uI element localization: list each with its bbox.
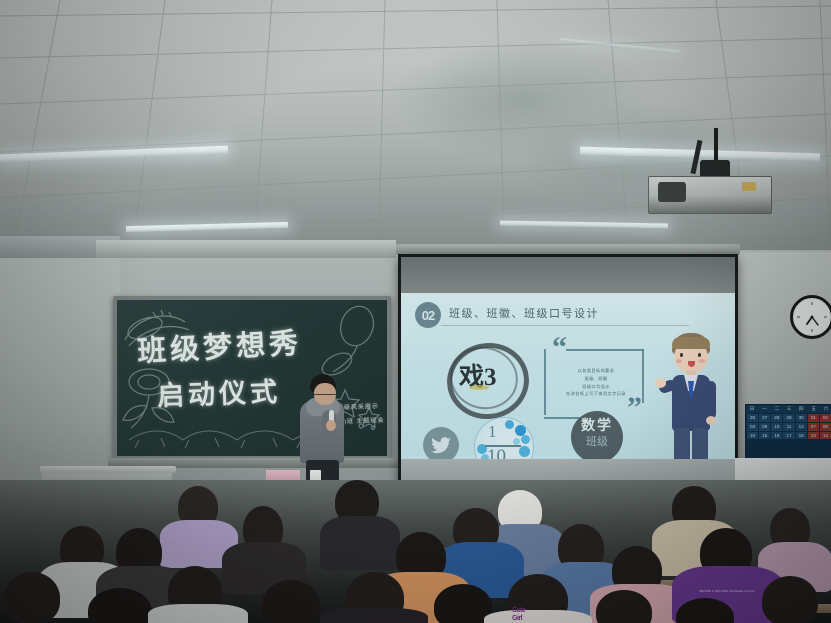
calendar-day: 29 [783,414,794,422]
calendar-weekday: 五 [807,406,819,412]
boy-cheek-right [699,359,705,363]
slide-divider [441,325,689,326]
quote-line: 班级口号设计 [554,383,638,391]
calendar-weekday: 四 [795,406,807,412]
calendar-weekday: 日 [746,406,758,412]
boy-eye-left [680,353,683,357]
calendar-day: 10 [771,423,782,431]
calendar-grid: 26 27 28 29 30 01 02 03 09 10 11 12 07 0… [746,413,831,440]
presenter-hand [326,420,336,431]
hoodie-print-text: BEFORE A NOTHING CHANGES A FOLD [692,590,762,594]
calendar-day: 27 [759,414,770,422]
blackboard-title-line1: 班级梦想秀 [136,320,303,371]
projector-label [742,182,756,191]
logo-dot [521,435,530,444]
screen-top-band [401,257,735,293]
boy-leg-right [692,428,708,459]
quote-open-mark: “ [552,331,567,365]
emblem-bottom-text: 班级 [571,433,623,449]
fraction-logo: 1 10 [474,417,534,459]
audience-torso-white-shirt [484,610,592,623]
bird-glyph [431,437,451,454]
calendar-weekday: 二 [771,406,783,412]
calendar-weekday: 三 [783,406,795,412]
fraction-numerator: 1 [488,422,497,442]
math-class-emblem: 数学 班级 [571,411,623,459]
boy-hand-right [706,416,716,425]
presentation-slide: 02 班级、班徽、班级口号设计 戏3 “ ” [401,293,735,459]
calendar-day: 01 [808,414,819,422]
wall-clock [790,295,831,339]
audience-head [762,576,818,623]
blackboard: 班级梦想秀 启动仪式 数学班级风采展示 高一(3)班 主题班会 [113,296,391,460]
calendar-day: 18 [796,432,807,440]
blackboard-title-line2: 启动仪式 [156,370,281,413]
projector-lens [658,182,686,202]
cartoon-boy-illustration [655,331,727,459]
boy-hand-left [655,378,666,388]
calendar-day: 16 [771,432,782,440]
audience-head [262,580,320,623]
calendar-day: 02 [820,414,831,422]
ink-splat [469,385,489,390]
projection-screen-surface: 02 班级、班徽、班级口号设计 戏3 “ ” [401,257,735,491]
calendar-day: 07 [808,423,819,431]
calendar-day: 28 [771,414,782,422]
logo-dot [513,438,520,445]
quote-text: 以各类目标的要求 班级、班徽 班级口号设计 在讲台纸上写下来用文字记录 [554,367,638,398]
calendar-day: 09 [759,423,770,431]
calendar-day: 08 [820,423,831,431]
calendar-day: 13 [808,432,819,440]
audience-torso [148,604,248,623]
tshirt-print-line2: Girl [512,616,522,623]
projection-screen: 02 班级、班徽、班级口号设计 戏3 “ ” [398,254,738,494]
wall-soffit [96,240,396,258]
calendar-day: 10 [747,432,758,440]
quote-border-left [544,349,546,415]
classroom-photo: 班级梦想秀 启动仪式 数学班级风采展示 高一(3)班 主题班会 02 班级、班徽… [0,0,831,623]
tshirt-print-line1: Cute [512,608,526,615]
calendar-day: 26 [747,414,758,422]
podium-top [40,466,176,473]
student-audience: BEFORE A NOTHING CHANGES A FOLD Cute Gir… [0,480,831,623]
calendar-day: 15 [759,432,770,440]
emblem-top-text: 数学 [571,415,623,435]
quote-line: 以各类目标的要求 [554,367,638,375]
audience-head [4,572,60,623]
audience-torso [320,608,428,623]
calendar-day: 11 [783,423,794,431]
presenter-glasses [314,389,336,395]
quote-border-right [642,349,644,403]
boy-arm-right [706,381,716,419]
calendar-weekday-header: 日 一 二 三 四 五 六 [746,405,831,413]
boy-leg-left [674,428,690,459]
ceiling [0,0,831,268]
logo-dot [505,420,514,429]
quote-line: 班级、班徽 [554,375,638,383]
calendar-day: 17 [783,432,794,440]
slide-quote-box: “ ” 以各类目标的要求 班级、班徽 班级口号设计 在讲台纸上写下来用文字记录 [544,339,644,419]
logo-dot [519,446,530,457]
boy-cheek-left [676,359,682,363]
calendar-day: 03 [747,423,758,431]
boy-fringe [672,337,710,349]
ink-circle-logo: 戏3 [443,341,525,413]
twitter-bird-icon [423,427,459,459]
calendar-weekday: 六 [820,406,831,412]
clock-face [793,298,831,336]
calendar-day: 12 [796,423,807,431]
audience-torso [320,516,400,570]
quote-line: 在讲台纸上写下来用文字记录 [554,390,638,398]
quote-border-top [566,349,644,351]
boy-eye-right [698,353,701,357]
calendar-day: 14 [820,432,831,440]
fraction-denominator: 10 [487,446,506,459]
calendar-day: 30 [796,414,807,422]
slide-heading: 班级、班徽、班级口号设计 [449,305,599,321]
calendar-weekday: 一 [758,406,770,412]
slide-section-badge: 02 [415,302,441,328]
